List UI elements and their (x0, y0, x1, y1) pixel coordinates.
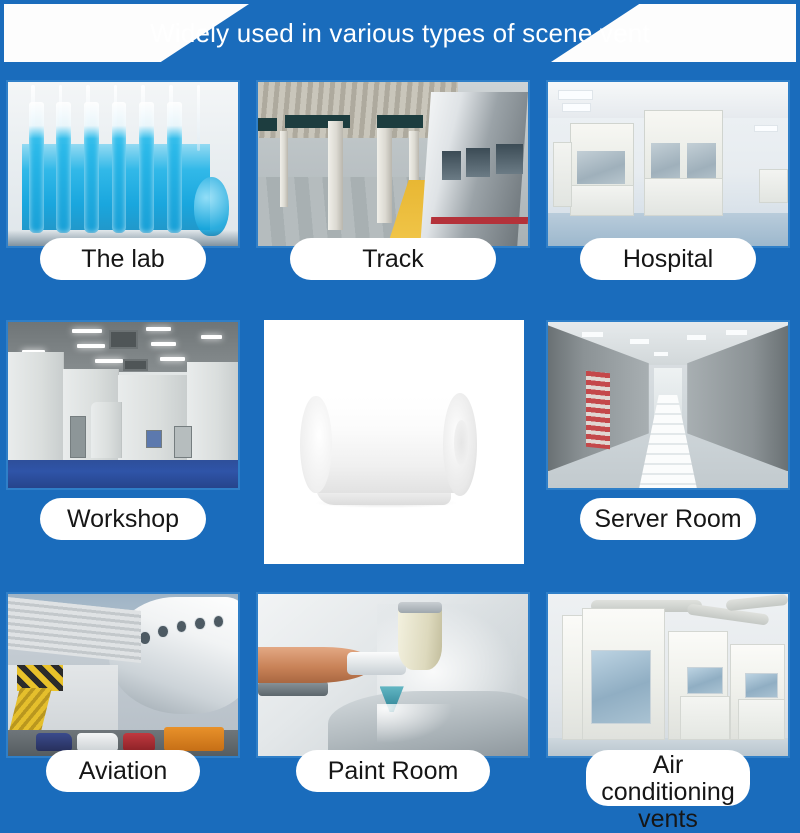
railway-platform-photo (258, 82, 528, 246)
label-server-room[interactable]: Server Room (580, 498, 756, 540)
grid-cell-server-room: Server Room (540, 310, 800, 580)
photo-air-conditioning-vents (546, 592, 790, 758)
grid-cell-workshop: Workshop (0, 310, 250, 580)
label-aviation[interactable]: Aviation (46, 750, 200, 792)
spray-paint-gun-photo (258, 594, 528, 756)
grid-cell-aviation: Aviation (0, 580, 250, 800)
grid-cell-track: Track (250, 70, 540, 310)
label-the-lab[interactable]: The lab (40, 238, 206, 280)
label-paint-room[interactable]: Paint Room (296, 750, 490, 792)
label-air-conditioning-vents[interactable]: Air conditioning vents (586, 750, 750, 806)
cleanroom-workshop-photo (8, 322, 238, 488)
banner-inner: Widely used in various types of scene ve… (4, 4, 796, 62)
photo-track (256, 80, 530, 248)
photo-product-filter-roll (264, 320, 524, 564)
photo-the-lab (6, 80, 240, 248)
grid-cell-product (250, 310, 540, 580)
server-room-aisle-photo (548, 322, 788, 488)
laboratory-test-tubes-photo (8, 82, 238, 246)
grid-cell-air-conditioning-vents: Air conditioning vents (540, 580, 800, 800)
hospital-fume-hood-lab-photo (548, 82, 788, 246)
grid-cell-the-lab: The lab (0, 70, 250, 310)
photo-server-room (546, 320, 790, 490)
grid-cell-paint-room: Paint Room (250, 580, 540, 800)
beaker-shape (194, 177, 229, 236)
photo-paint-room (256, 592, 530, 758)
label-hospital[interactable]: Hospital (580, 238, 756, 280)
photo-aviation (6, 592, 240, 758)
header-banner: Widely used in various types of scene ve… (0, 0, 800, 70)
photo-hospital (546, 80, 790, 248)
label-workshop[interactable]: Workshop (40, 498, 206, 540)
air-conditioning-vents-photo (548, 594, 788, 756)
page-title: Widely used in various types of scene ve… (4, 4, 796, 62)
filter-media-roll-product-photo (264, 320, 524, 564)
airplane-jet-bridge-photo (8, 594, 238, 756)
photo-workshop (6, 320, 240, 490)
grid-cell-hospital: Hospital (540, 70, 800, 310)
label-track[interactable]: Track (290, 238, 496, 280)
scene-grid: The lab Track (0, 70, 800, 800)
